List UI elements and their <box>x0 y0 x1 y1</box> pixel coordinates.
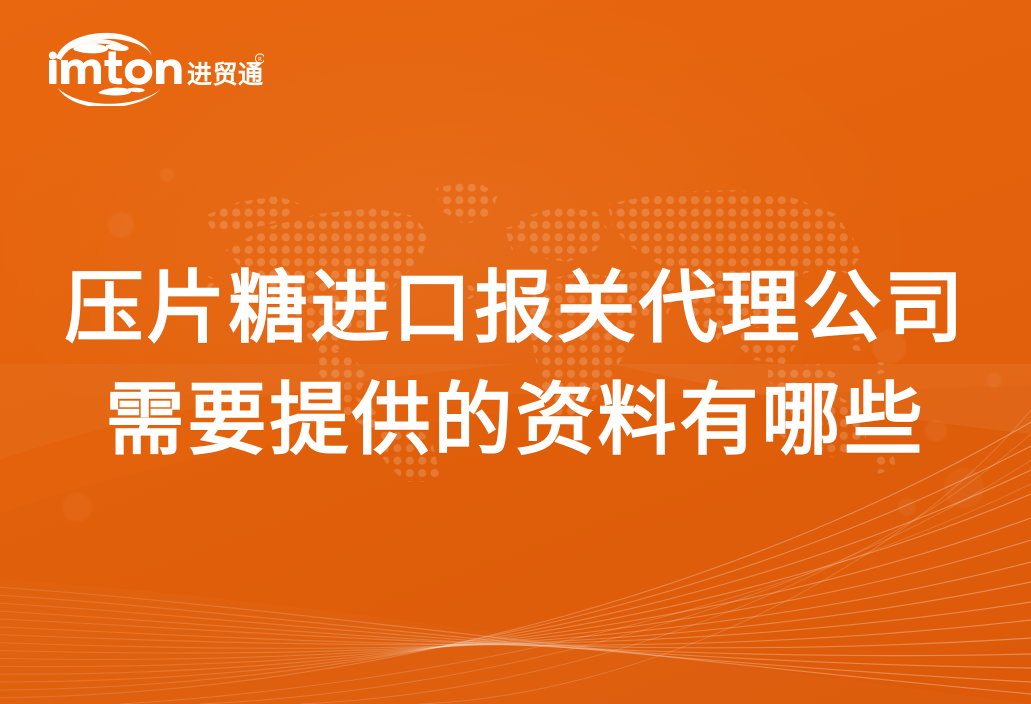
svg-text:进贸通: 进贸通 <box>187 60 264 89</box>
bokeh-circle <box>898 498 916 516</box>
globe-swoosh-icon <box>56 33 152 60</box>
trademark-icon: R <box>255 54 264 63</box>
bokeh-circle <box>160 168 174 182</box>
bokeh-circle <box>62 492 92 522</box>
logo-latin-wordmark <box>49 52 182 85</box>
title-line-1: 压片糖进口报关代理公司 <box>0 252 1031 364</box>
bird-swoosh-icon <box>58 88 161 106</box>
logo-chinese-wordmark: 进贸通 <box>187 60 264 89</box>
poster-banner: 进贸通 R 压片糖进口报关代理公司 需要提供的资料有哪些 <box>0 0 1031 704</box>
svg-text:R: R <box>258 57 262 63</box>
page-title: 压片糖进口报关代理公司 需要提供的资料有哪些 <box>0 252 1031 476</box>
bokeh-circle <box>108 212 134 238</box>
title-line-2: 需要提供的资料有哪些 <box>0 364 1031 476</box>
brand-logo[interactable]: 进贸通 R <box>44 30 264 106</box>
